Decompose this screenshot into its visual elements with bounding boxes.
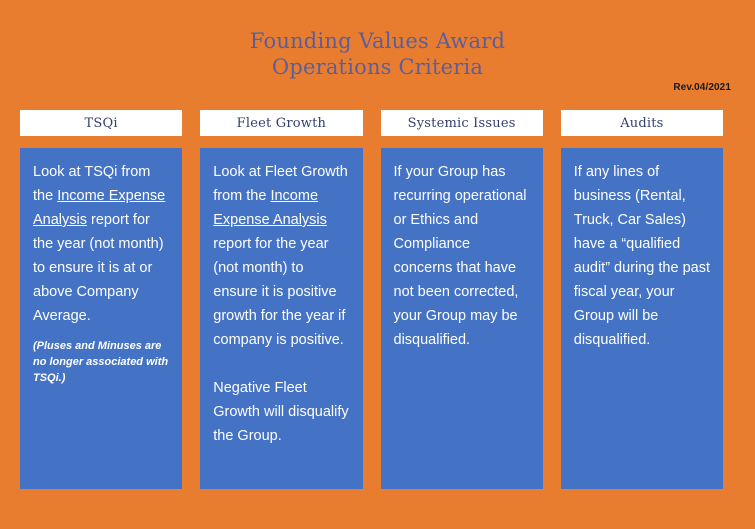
slide-canvas: Founding Values Award Operations Criteri… xyxy=(0,0,755,529)
body-text-run: report for the year (not month) to ensur… xyxy=(213,236,345,348)
body-text-run: If any lines of business (Rental, Truck,… xyxy=(574,164,710,348)
criteria-column-fleet-growth: Fleet Growth Look at Fleet Growth from t… xyxy=(200,110,362,489)
column-body-1: Look at TSQi from the Income Expense Ana… xyxy=(20,148,182,489)
column-paragraphs-2: Look at Fleet Growth from the Income Exp… xyxy=(213,160,350,448)
column-header-box-3: Systemic Issues xyxy=(381,110,543,136)
body-text-run: If your Group has recurring operational … xyxy=(394,164,527,348)
body-paragraph: Look at Fleet Growth from the Income Exp… xyxy=(213,160,350,352)
criteria-columns: TSQi Look at TSQi from the Income Expens… xyxy=(20,110,723,489)
slide-title: Founding Values Award Operations Criteri… xyxy=(0,28,755,80)
column-body-3: If your Group has recurring operational … xyxy=(381,148,543,489)
criteria-column-systemic-issues: Systemic Issues If your Group has recurr… xyxy=(381,110,543,489)
body-paragraph: Negative Fleet Growth will disqualify th… xyxy=(213,376,350,448)
criteria-column-tsqi: TSQi Look at TSQi from the Income Expens… xyxy=(20,110,182,489)
column-gap-4 xyxy=(561,136,723,148)
column-paragraphs-4: If any lines of business (Rental, Truck,… xyxy=(574,160,711,352)
body-text-run: report for the year (not month) to ensur… xyxy=(33,212,164,324)
criteria-column-audits: Audits If any lines of business (Rental,… xyxy=(561,110,723,489)
column-header-box-2: Fleet Growth xyxy=(200,110,362,136)
column-header-label-3: Systemic Issues xyxy=(408,116,516,131)
column-body-2: Look at Fleet Growth from the Income Exp… xyxy=(200,148,362,489)
column-paragraphs-3: If your Group has recurring operational … xyxy=(394,160,531,352)
column-header-label-2: Fleet Growth xyxy=(237,116,326,131)
column-gap-3 xyxy=(381,136,543,148)
body-paragraph: If any lines of business (Rental, Truck,… xyxy=(574,160,711,352)
column-body-4: If any lines of business (Rental, Truck,… xyxy=(561,148,723,489)
title-line-2: Operations Criteria xyxy=(0,54,755,80)
body-paragraph: Look at TSQi from the Income Expense Ana… xyxy=(33,160,170,328)
column-gap-1 xyxy=(20,136,182,148)
column-header-box-1: TSQi xyxy=(20,110,182,136)
column-gap-2 xyxy=(200,136,362,148)
revision-stamp: Rev.04/2021 xyxy=(673,82,731,93)
body-text-run: Negative Fleet Growth will disqualify th… xyxy=(213,380,348,444)
column-paragraphs-1: Look at TSQi from the Income Expense Ana… xyxy=(33,160,170,328)
title-line-1: Founding Values Award xyxy=(0,28,755,54)
column-note-1: (Pluses and Minuses are no longer associ… xyxy=(33,338,170,386)
column-header-box-4: Audits xyxy=(561,110,723,136)
column-header-label-1: TSQi xyxy=(85,116,118,131)
column-header-label-4: Audits xyxy=(620,116,663,131)
body-paragraph: If your Group has recurring operational … xyxy=(394,160,531,352)
